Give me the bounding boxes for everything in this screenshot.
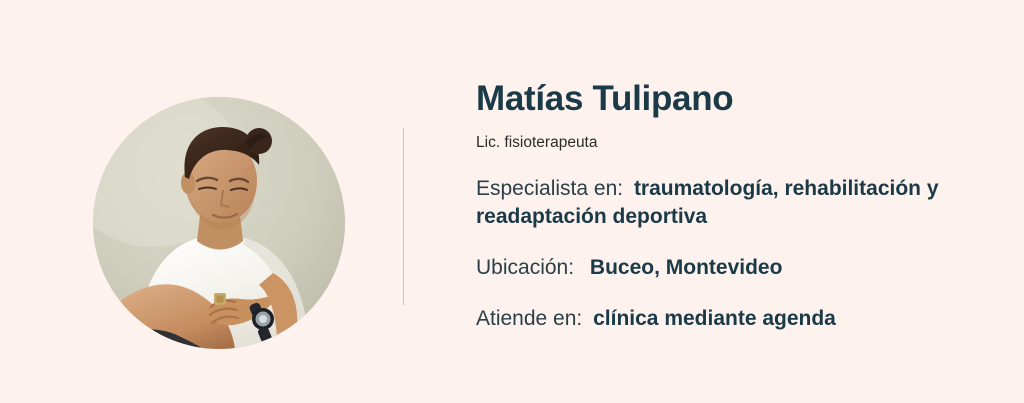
profile-credential: Lic. fisioterapeuta (476, 133, 1006, 153)
fact-specialty-label: Especialista en: (476, 177, 623, 200)
profile-card: Matías Tulipano Lic. fisioterapeuta Espe… (0, 0, 1024, 403)
fact-location-label: Ubicación: (476, 256, 574, 279)
profile-photo-image (93, 97, 345, 349)
fact-service-mode: Atiende en: clínica mediante agenda (476, 305, 1006, 333)
profile-name: Matías Tulipano (476, 78, 1006, 119)
fact-service-mode-value: clínica mediante agenda (593, 307, 836, 330)
profile-info: Matías Tulipano Lic. fisioterapeuta Espe… (476, 78, 1006, 332)
fact-location: Ubicación: Buceo, Montevideo (476, 254, 1006, 282)
fact-service-mode-label: Atiende en: (476, 307, 582, 330)
fact-specialty: Especialista en: traumatología, rehabili… (476, 175, 1006, 230)
profile-photo (93, 97, 345, 349)
fact-location-value: Buceo, Montevideo (590, 256, 783, 279)
vertical-divider (403, 128, 404, 305)
portrait-illustration (93, 97, 345, 349)
